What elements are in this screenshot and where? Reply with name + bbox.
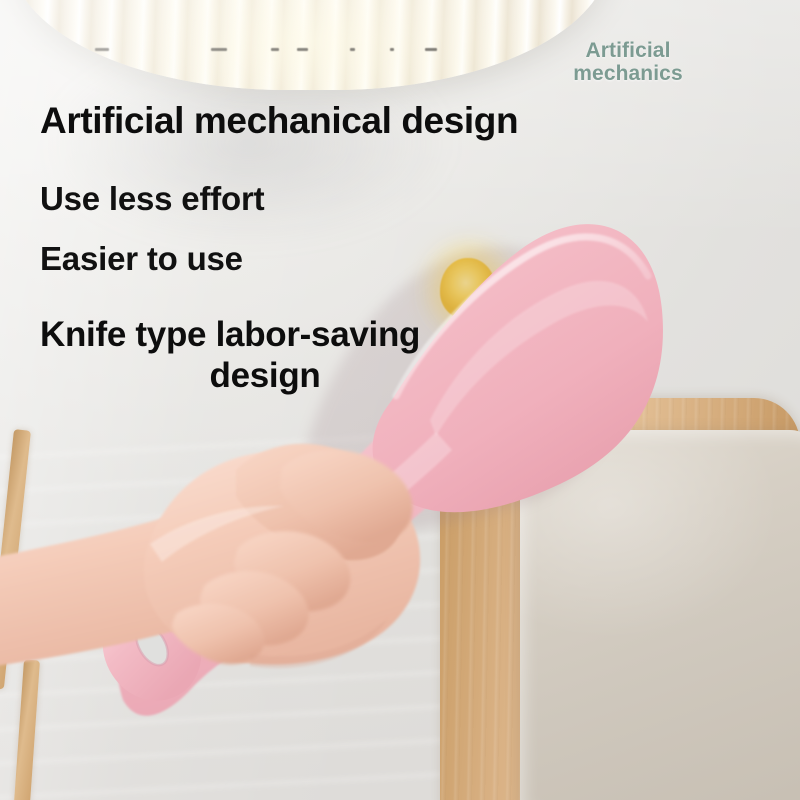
brand-tag-line2: mechanics: [562, 63, 694, 86]
brand-tag: Artificial mechanics: [562, 40, 694, 85]
subline-use-less-effort: Use less effort: [40, 180, 264, 218]
light-bulb-icon: [440, 258, 496, 320]
dash-mark: [211, 48, 227, 51]
dash-mark: [95, 48, 109, 51]
dash-mark: [425, 48, 437, 51]
chair-cushion: [520, 430, 800, 800]
brand-tag-line1: Artificial: [562, 40, 694, 63]
headline: Artificial mechanical design: [40, 100, 518, 142]
dash-mark: [297, 48, 308, 51]
product-image-canvas: Artificial mechanics Artificial mechanic…: [0, 0, 800, 800]
closing-statement: Knife type labor-saving design: [40, 314, 490, 397]
dash-mark: [390, 48, 394, 51]
closing-line1: Knife type labor-saving: [40, 314, 490, 355]
background-curtain-bands: [0, 430, 480, 800]
dash-mark: [350, 48, 355, 51]
dash-mark: [271, 48, 279, 51]
subline-easier-to-use: Easier to use: [40, 240, 243, 278]
closing-line2: design: [40, 355, 490, 396]
faint-dash-marks: [95, 40, 515, 62]
